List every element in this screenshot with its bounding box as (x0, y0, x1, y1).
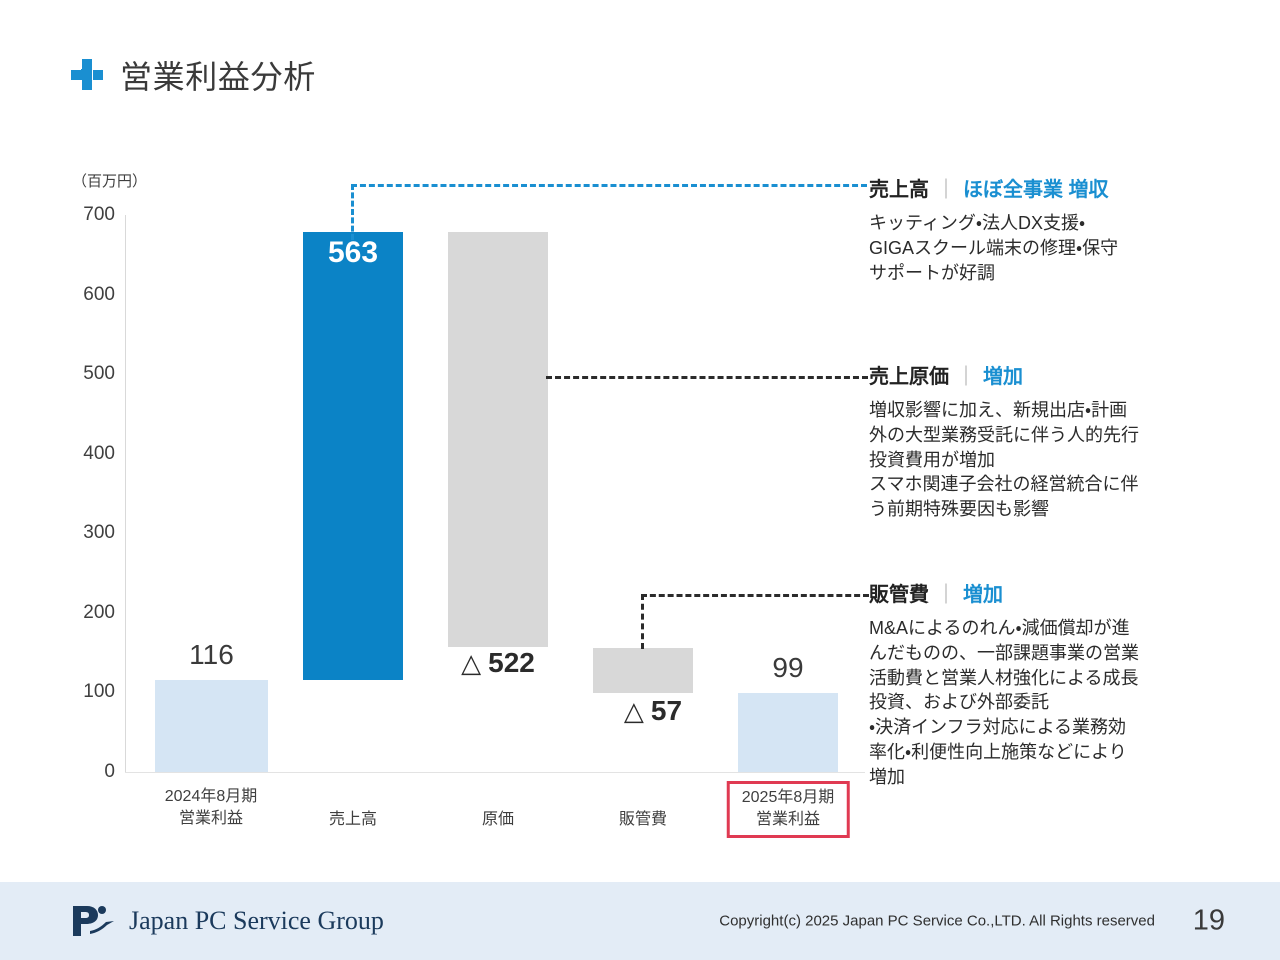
annotation-revenue-heading: 売上高｜ほぼ全事業 増収 (869, 173, 1214, 202)
ps-running-logo-icon (70, 901, 116, 941)
annotation-revenue: 売上高｜ほぼ全事業 増収 キッティング・法人DX支援・ GIGAスクール端末の修… (869, 173, 1214, 285)
annotation-revenue-body: キッティング・法人DX支援・ GIGAスクール端末の修理・保守 サポートが好調 (869, 211, 1214, 285)
x-label-cost-of-sales: 原価 (482, 809, 514, 831)
footer-brand: Japan PC Service Group (70, 901, 384, 941)
connector-revenue-vertical (351, 184, 354, 240)
bar-fy2025-operating-profit[interactable] (738, 693, 838, 772)
annotation-cost-body: 増収影響に加え、新規出店・計画 外の大型業務受託に伴う人的先行 投資費用が増加 … (869, 398, 1214, 522)
annotation-cost-of-sales: 売上原価｜増加 増収影響に加え、新規出店・計画 外の大型業務受託に伴う人的先行 … (869, 360, 1214, 522)
plot-area: 700 600 500 400 300 200 100 0 116 563 △5… (125, 215, 865, 772)
bar-sga-expenses[interactable] (593, 648, 693, 693)
x-label-line1: 2024年8月期 (165, 786, 258, 808)
bar-cost-of-sales[interactable] (448, 232, 548, 648)
annotation-revenue-highlight: ほぼ全事業 増収 (963, 179, 1109, 201)
x-label-line2: 営業利益 (742, 809, 835, 831)
x-label-line2: 営業利益 (165, 808, 258, 830)
connector-cost-horizontal (546, 376, 868, 379)
y-tick-100: 100 (83, 681, 115, 703)
annotation-cost-heading: 売上原価｜増加 (869, 360, 1214, 389)
x-label-revenue: 売上高 (329, 809, 377, 831)
annotation-separator: ｜ (936, 179, 956, 201)
connector-sga-vertical (641, 594, 644, 649)
annotation-cost-highlight: 増加 (983, 366, 1023, 388)
footer-copyright: Copyright(c) 2025 Japan PC Service Co.,L… (719, 913, 1155, 930)
bar-value-sga-expenses-number: 57 (651, 695, 682, 726)
y-tick-300: 300 (83, 522, 115, 544)
decrease-triangle-icon: △ (461, 648, 481, 678)
x-axis-baseline (125, 772, 865, 773)
bar-value-revenue: 563 (328, 236, 378, 270)
bar-value-sga-expenses: △57 (624, 695, 682, 727)
y-tick-500: 500 (83, 363, 115, 385)
y-tick-700: 700 (83, 204, 115, 226)
annotation-sga-body: M&Aによるのれん・減価償却が進 んだものの、一部課題事業の営業 活動費と営業人… (869, 616, 1214, 790)
y-tick-600: 600 (83, 284, 115, 306)
y-tick-400: 400 (83, 443, 115, 465)
page-number: 19 (1193, 905, 1225, 938)
bar-fy2024-operating-profit[interactable] (155, 680, 268, 772)
annotation-sga-highlight: 増加 (963, 584, 1003, 606)
x-label-line1: 2025年8月期 (742, 787, 835, 809)
connector-revenue-horizontal (351, 184, 867, 187)
footer-company-name: Japan PC Service Group (129, 906, 384, 936)
annotation-revenue-title: 売上高 (869, 179, 929, 201)
annotation-cost-title: 売上原価 (869, 366, 949, 388)
bar-value-cost-of-sales-number: 522 (488, 647, 535, 678)
bar-value-fy2025-operating-profit: 99 (772, 652, 803, 684)
annotation-sga: 販管費｜増加 M&Aによるのれん・減価償却が進 んだものの、一部課題事業の営業 … (869, 578, 1214, 790)
x-label-sga-expenses: 販管費 (619, 809, 667, 831)
x-label-fy2024-operating-profit: 2024年8月期 営業利益 (165, 786, 258, 829)
decrease-triangle-icon: △ (624, 696, 644, 726)
bar-value-cost-of-sales: △522 (461, 647, 535, 679)
axis-unit-label: （百万円） (72, 170, 147, 191)
slide-footer: Japan PC Service Group Copyright(c) 2025… (0, 882, 1280, 960)
bar-value-fy2024-operating-profit: 116 (189, 639, 234, 671)
connector-sga-horizontal (641, 594, 869, 597)
annotation-sga-title: 販管費 (869, 584, 929, 606)
y-tick-0: 0 (104, 761, 115, 783)
bar-revenue[interactable] (303, 232, 403, 680)
annotation-sga-heading: 販管費｜増加 (869, 578, 1214, 607)
annotation-separator: ｜ (956, 366, 976, 388)
annotation-separator: ｜ (936, 584, 956, 606)
y-tick-200: 200 (83, 602, 115, 624)
x-label-fy2025-operating-profit: 2025年8月期 営業利益 (727, 781, 850, 838)
